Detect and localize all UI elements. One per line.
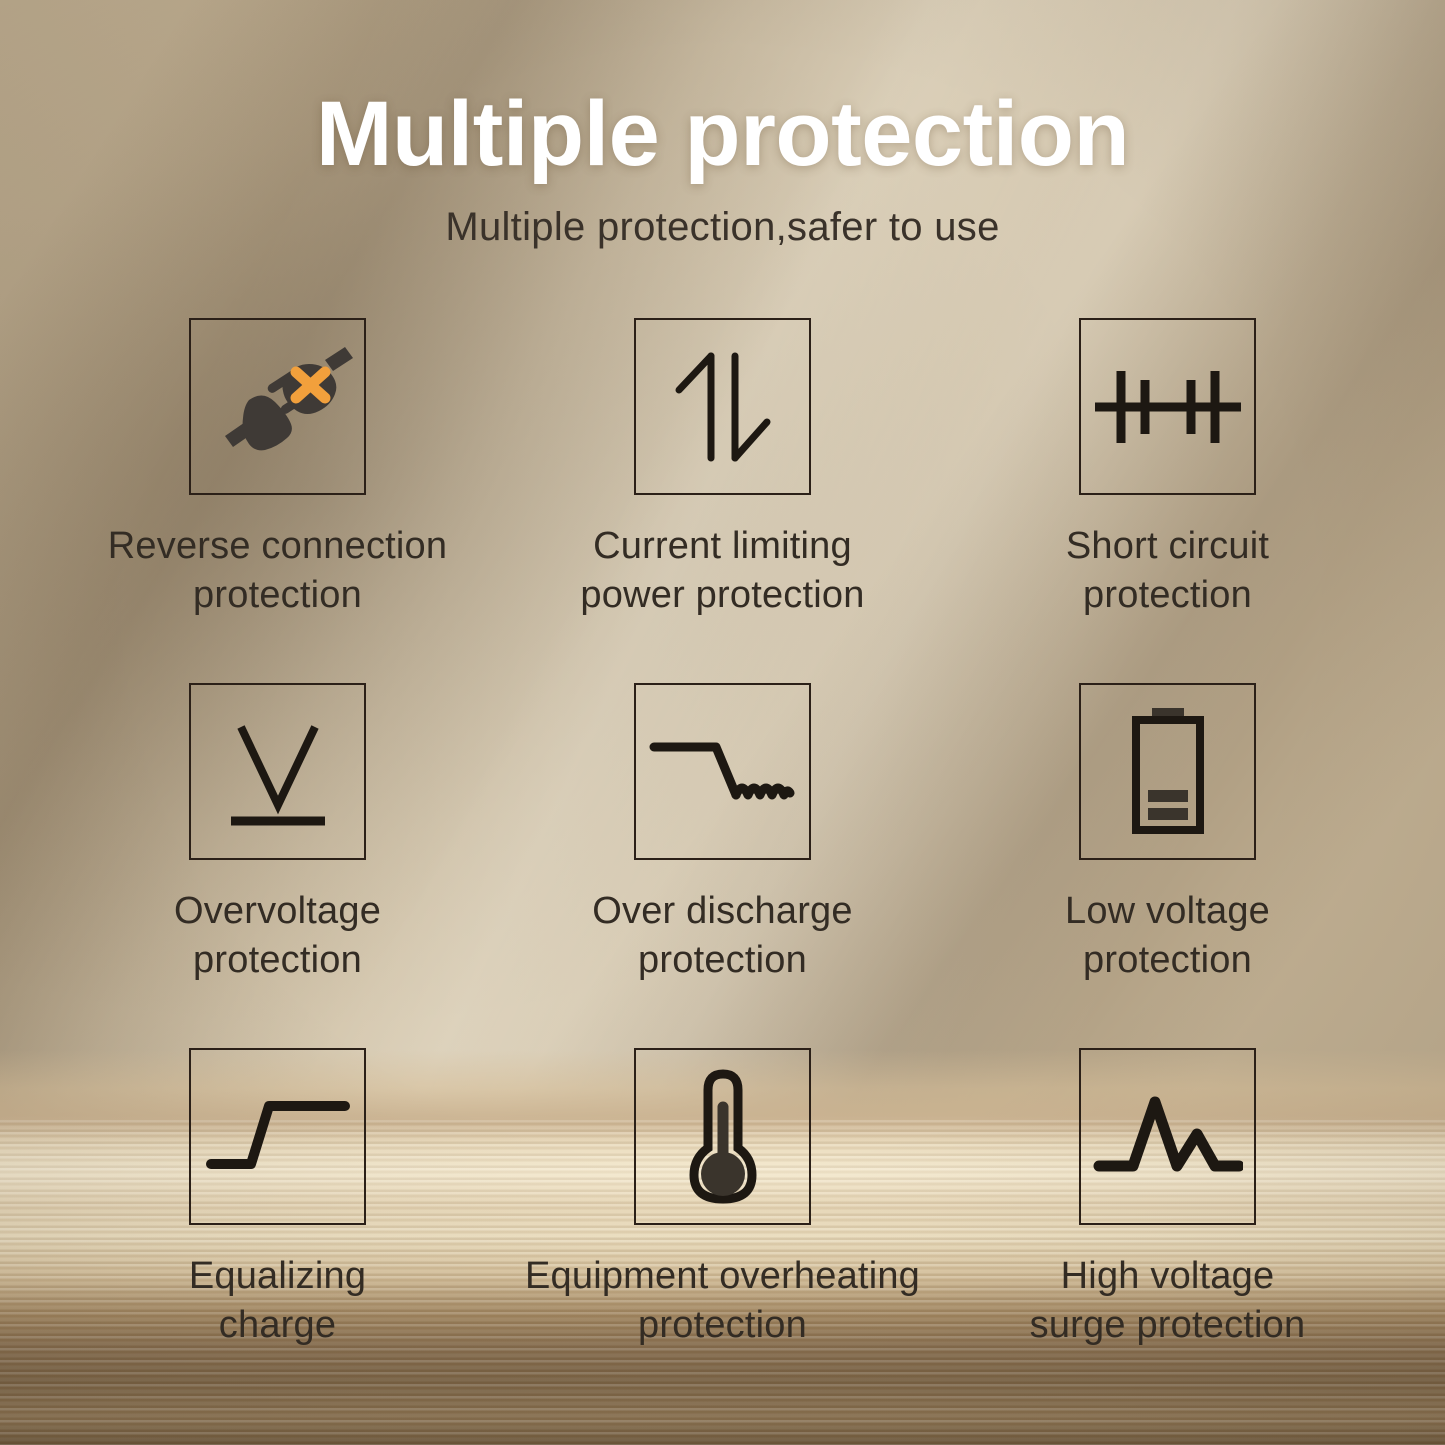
feature-label: Over discharge protection — [592, 887, 852, 986]
feature-label: Short circuit protection — [1066, 522, 1269, 621]
voltage-v-bar-icon — [213, 707, 343, 837]
feature-label: Overvoltage protection — [174, 887, 381, 986]
icon-frame — [1079, 1048, 1256, 1225]
low-battery-icon — [1118, 702, 1218, 842]
feature-item-over-discharge: Over discharge protection — [500, 683, 945, 1048]
icon-frame — [189, 318, 366, 495]
protection-features-poster: Multiple protection Multiple protection,… — [0, 0, 1445, 1445]
feature-label: Reverse connection protection — [108, 522, 447, 621]
feature-label: Current limiting power protection — [580, 522, 864, 621]
icon-frame — [634, 1048, 811, 1225]
discharge-drop-curve-icon — [648, 717, 798, 827]
page-subtitle: Multiple protection,safer to use — [0, 205, 1445, 250]
icon-frame — [1079, 318, 1256, 495]
icon-frame — [1079, 683, 1256, 860]
page-title: Multiple protection — [0, 82, 1445, 187]
step-rise-curve-icon — [203, 1082, 353, 1192]
feature-item-reverse-connection: Reverse connection protection — [55, 318, 500, 683]
icon-frame — [189, 1048, 366, 1225]
up-down-arrows-icon — [663, 342, 783, 472]
thermometer-icon — [668, 1062, 778, 1212]
features-grid: Reverse connection protection Current li… — [55, 318, 1390, 1413]
plug-disconnect-icon — [203, 332, 353, 482]
feature-label: High voltage surge protection — [1030, 1252, 1306, 1351]
icon-frame — [189, 683, 366, 860]
feature-item-high-voltage-surge: High voltage surge protection — [945, 1048, 1390, 1413]
icon-frame — [634, 318, 811, 495]
feature-item-overheating: Equipment overheating protection — [500, 1048, 945, 1413]
voltage-spike-icon — [1093, 1082, 1243, 1192]
feature-item-current-limiting: Current limiting power protection — [500, 318, 945, 683]
feature-label: Equalizing charge — [189, 1252, 366, 1351]
short-circuit-terminals-icon — [1093, 347, 1243, 467]
feature-item-equalizing-charge: Equalizing charge — [55, 1048, 500, 1413]
feature-item-short-circuit: Short circuit protection — [945, 318, 1390, 683]
feature-item-low-voltage: Low voltage protection — [945, 683, 1390, 1048]
icon-frame — [634, 683, 811, 860]
feature-label: Low voltage protection — [1065, 887, 1270, 986]
feature-item-overvoltage: Overvoltage protection — [55, 683, 500, 1048]
feature-label: Equipment overheating protection — [525, 1252, 920, 1351]
